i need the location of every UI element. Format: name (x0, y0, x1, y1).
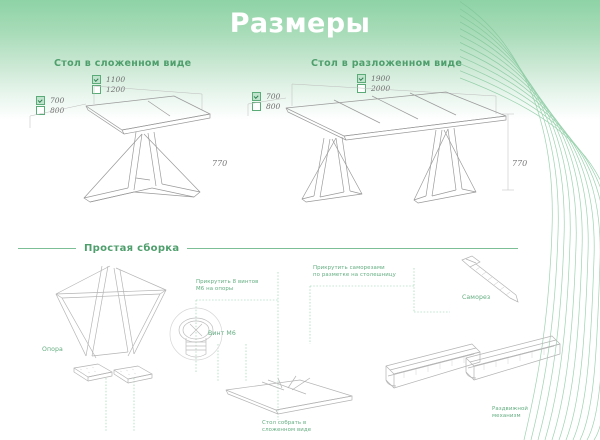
divider-rule-left (18, 248, 76, 249)
part-label-bolt: Винт М6 (208, 330, 236, 338)
instruction-bolts: Прикрутить 8 винтов М6 на опоры (196, 279, 258, 293)
instruction-fold: Стол собрать в сложенном виде (262, 420, 311, 434)
folded-table-drawing (24, 80, 224, 210)
unfolded-table-drawing (240, 78, 530, 210)
assembly-diagram-drawing (10, 252, 570, 440)
divider-rule-right (187, 248, 518, 249)
instruction-screws: Прикрутить саморезами по разметке на сто… (313, 265, 396, 279)
section-title-folded: Стол в сложенном виде (54, 58, 191, 69)
infographic-page: Размеры Стол в сложенном виде 1100 1200 (0, 0, 600, 440)
page-title: Размеры (0, 8, 600, 39)
part-label-screw: Саморез (462, 294, 490, 302)
part-label-support: Опора (42, 346, 63, 354)
part-label-mechanism: Раздвижной механизм (492, 406, 528, 420)
section-title-unfolded: Стол в разложенном виде (311, 58, 462, 69)
